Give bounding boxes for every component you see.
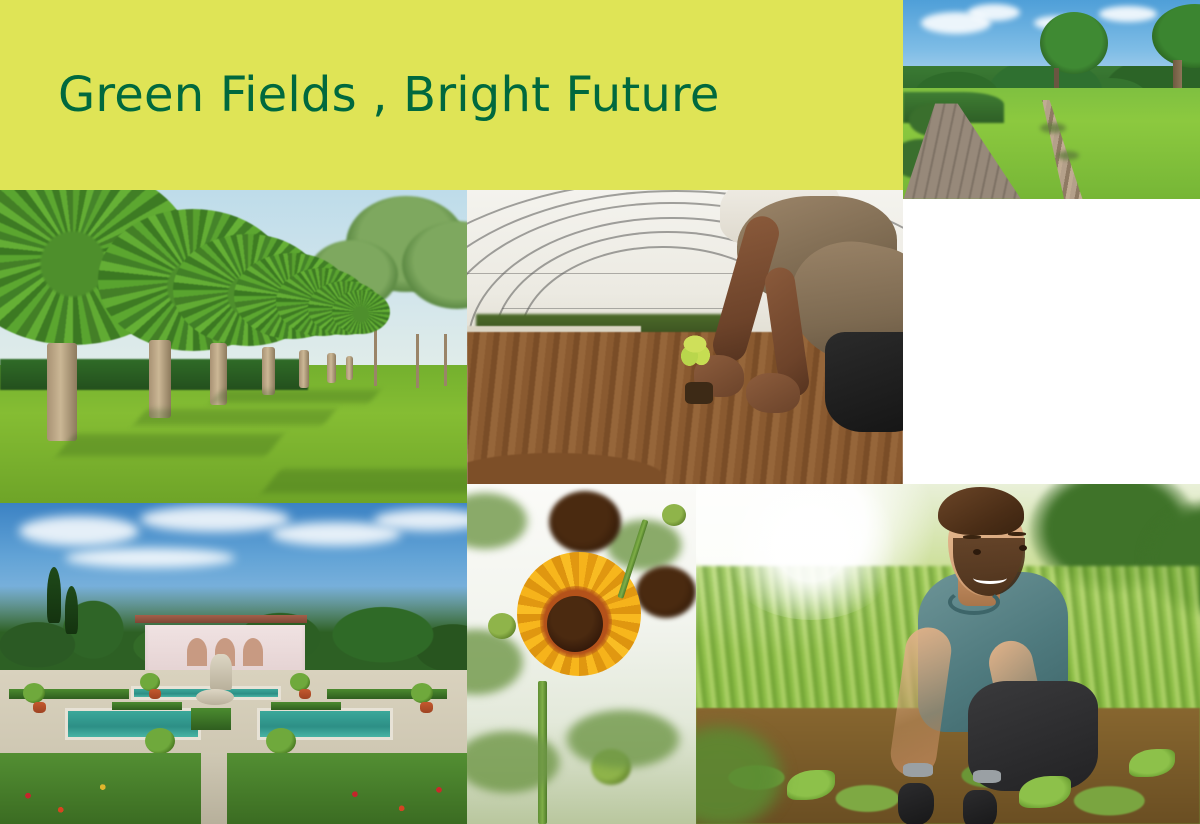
farmer-eyebrow	[963, 535, 981, 539]
reflecting-pool	[65, 708, 201, 740]
tree-trunk	[374, 328, 377, 386]
photo-smiling-farmer-in-field	[696, 484, 1200, 824]
tree-shadow	[57, 434, 284, 456]
photo-park-lawn-stone-path	[903, 0, 1200, 199]
palm-trunk	[47, 343, 77, 441]
potted-citrus-tree	[266, 728, 296, 754]
farmer-eye	[973, 549, 981, 555]
cloud	[19, 516, 139, 546]
cloud	[65, 548, 235, 568]
pavilion-arch	[187, 638, 207, 666]
tree-shadow	[134, 409, 337, 425]
headline-banner: Green Fields , Bright Future	[0, 0, 903, 190]
large-tree-canopy	[1040, 12, 1108, 74]
box-hedge	[112, 702, 182, 710]
gardening-glove	[963, 790, 997, 824]
palm-crown	[332, 290, 390, 334]
palm-trunk	[149, 340, 171, 418]
photo-sunflower-closeup	[467, 484, 696, 824]
potted-citrus-tree	[145, 728, 175, 754]
glove-cuff	[903, 763, 933, 777]
agriculture-poster: Green Fields , Bright Future	[0, 0, 1200, 824]
palm-trunk	[327, 353, 336, 383]
tree-shadow	[261, 469, 467, 493]
glove-cuff	[973, 770, 1001, 783]
potted-topiary	[23, 683, 45, 703]
photo-italian-formal-garden	[0, 503, 467, 824]
page-title: Green Fields , Bright Future	[58, 67, 720, 123]
central-fountain	[210, 654, 232, 690]
farmer-hand	[746, 373, 800, 413]
background-sunflower	[549, 491, 621, 553]
sunflower-bud	[662, 504, 686, 526]
potted-topiary	[411, 683, 433, 703]
cloud	[968, 4, 1020, 21]
tree-shadow	[210, 390, 380, 403]
palm-trunk	[346, 356, 353, 380]
sunflower-bud	[488, 613, 516, 639]
flower-beds	[0, 753, 467, 824]
terracotta-pot	[420, 702, 433, 713]
pavilion-arch	[243, 638, 263, 666]
farmer-eye	[1019, 545, 1027, 551]
cloud	[1099, 6, 1157, 22]
palm-trunk	[262, 347, 275, 395]
cypress-tree	[47, 567, 61, 623]
terracotta-pot	[299, 689, 311, 699]
palm-trunk	[299, 350, 309, 388]
lettuce-seedling	[672, 332, 718, 372]
sunflower-disc	[547, 596, 603, 652]
photo-palm-tree-avenue	[0, 190, 467, 503]
gardening-glove	[898, 783, 934, 824]
cypress-tree	[65, 586, 78, 634]
farmer-eyebrow	[1008, 532, 1026, 536]
rubber-boot	[825, 332, 903, 432]
gravel-walkway	[201, 753, 227, 824]
terracotta-pot	[33, 702, 46, 713]
tree-trunk	[416, 334, 419, 388]
background-sunflower	[636, 566, 696, 618]
seedling-rootball	[685, 382, 713, 404]
box-hedge	[271, 702, 341, 710]
tree-trunk	[444, 334, 447, 386]
box-hedge	[191, 708, 231, 730]
terracotta-pot	[149, 689, 161, 699]
farmer-hair	[938, 487, 1024, 535]
tunnel-cross-brace	[502, 308, 746, 309]
photo-farmer-planting-seedling	[467, 190, 903, 485]
pavilion-roof	[135, 615, 307, 623]
